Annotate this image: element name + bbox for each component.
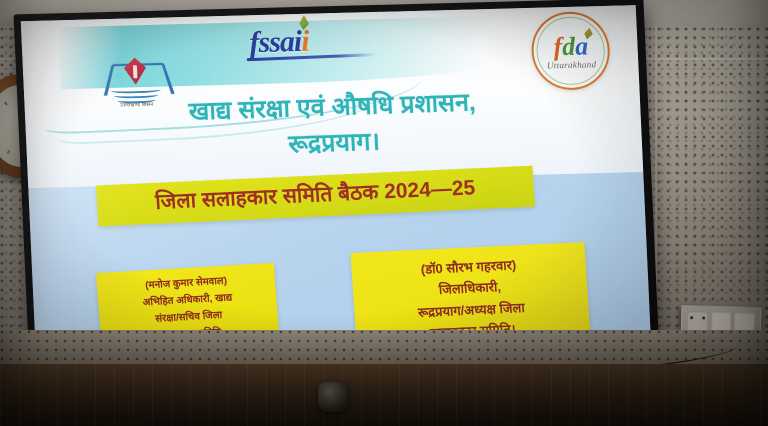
ceiling-camera-icon	[318, 382, 348, 412]
fssai-logo: fssaii	[249, 26, 309, 58]
fssai-wordmark: fssai	[249, 25, 302, 59]
fda-letter-d: d	[561, 32, 575, 61]
clock-tick	[4, 101, 8, 105]
fda-wordmark: fda	[533, 33, 608, 61]
room-scene: उत्तराखण्ड शासन fssaii fda Uttarakhand	[0, 0, 768, 426]
fssai-i-letter: i	[300, 24, 309, 57]
slide-title-line-1: खाद्य संरक्षा एवं औषधि प्रशासन,	[188, 89, 476, 126]
fda-subtitle: Uttarakhand	[534, 59, 608, 71]
emblem-ashoka-pillar	[133, 66, 138, 79]
clock-tick	[7, 150, 11, 154]
wood-paneling	[0, 364, 768, 426]
